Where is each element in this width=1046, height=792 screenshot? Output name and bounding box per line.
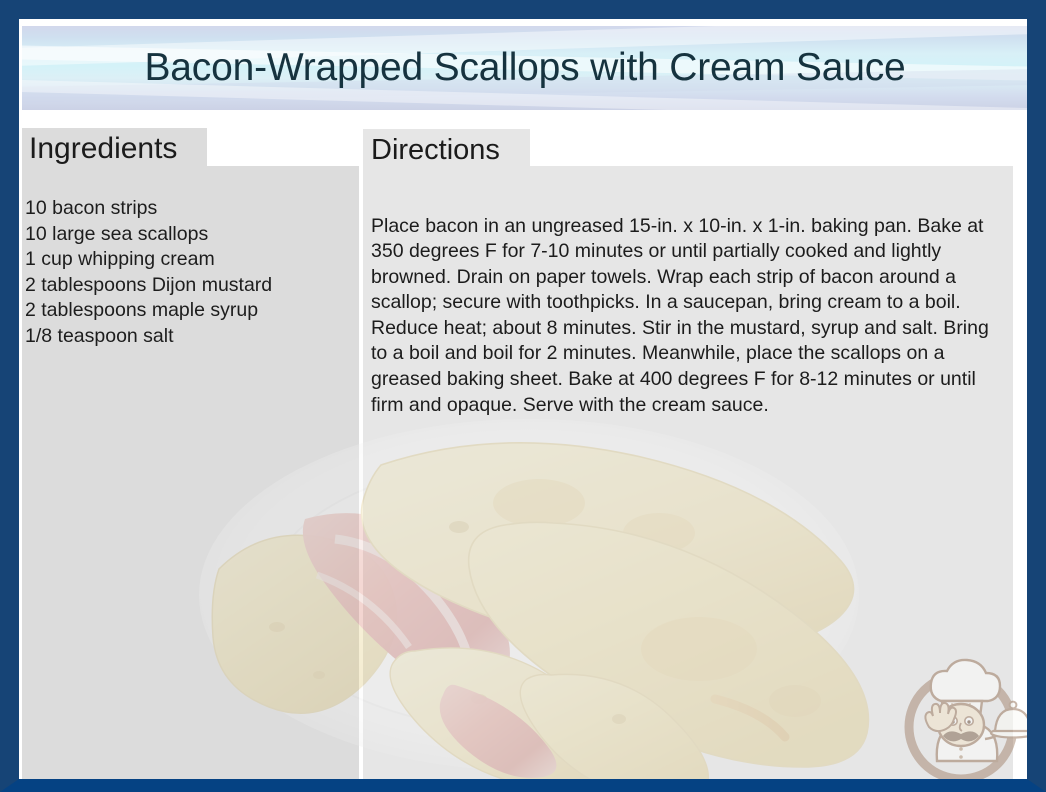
directions-text: Place bacon in an ungreased 15-in. x 10-… — [371, 214, 1008, 419]
list-item: 10 large sea scallops — [25, 222, 355, 248]
directions-heading: Directions — [371, 132, 500, 168]
list-item: 1 cup whipping cream — [25, 247, 355, 273]
page-title: Bacon-Wrapped Scallops with Cream Sauce — [22, 26, 1028, 110]
list-item: 2 tablespoons Dijon mustard — [25, 273, 355, 299]
list-item: 2 tablespoons maple syrup — [25, 298, 355, 324]
recipe-page: Bacon-Wrapped Scallops with Cream Sauce — [0, 0, 1046, 792]
list-item: 10 bacon strips — [25, 196, 355, 222]
list-item: 1/8 teaspoon salt — [25, 324, 355, 350]
page-canvas: Bacon-Wrapped Scallops with Cream Sauce — [19, 19, 1027, 779]
ingredients-heading: Ingredients — [29, 131, 177, 167]
chef-mascot-logo — [897, 657, 1037, 787]
ingredients-list: 10 bacon strips 10 large sea scallops 1 … — [25, 196, 355, 350]
title-banner: Bacon-Wrapped Scallops with Cream Sauce — [22, 26, 1028, 110]
